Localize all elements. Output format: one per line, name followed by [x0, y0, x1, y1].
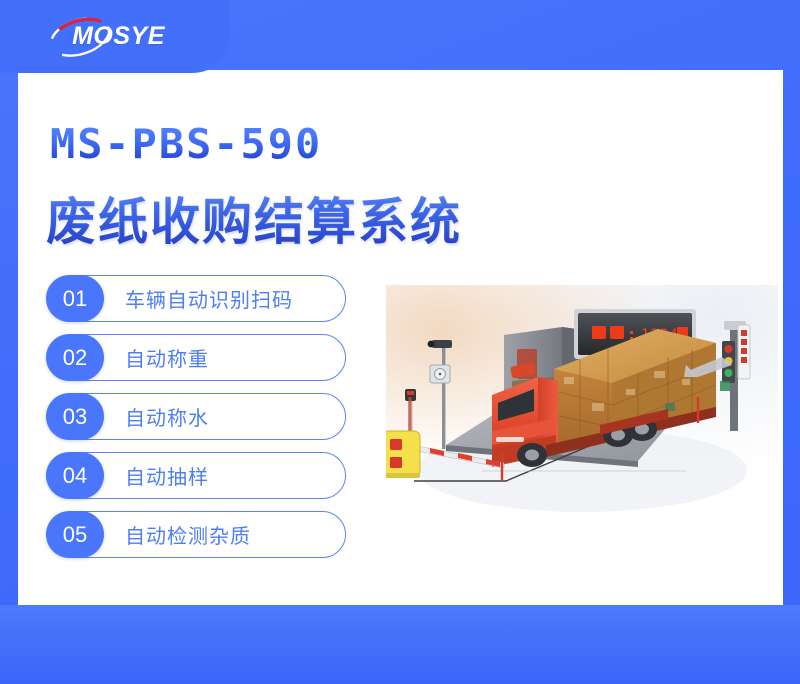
mosye-logo: MOSYE	[44, 14, 179, 60]
list-item[interactable]: 车辆自动识别扫码 01	[46, 275, 346, 322]
headlight	[496, 437, 524, 442]
truck-weighbridge-illustration: 1234	[386, 285, 778, 535]
feature-label: 自动称重	[125, 343, 209, 372]
camera-pole	[428, 340, 452, 449]
bottom-blue-band	[0, 605, 800, 684]
poster-root: MS-PBS-590 废纸收购结算系统 车辆自动识别扫码 01 自动称重 02 …	[0, 0, 800, 684]
content-card: MS-PBS-590 废纸收购结算系统 车辆自动识别扫码 01 自动称重 02 …	[18, 70, 783, 605]
feature-number-badge: 01	[46, 275, 104, 322]
feature-label: 自动抽样	[125, 461, 209, 490]
feature-label: 自动检测杂质	[125, 520, 251, 549]
logo-text: MOSYE	[72, 22, 165, 51]
feature-list: 车辆自动识别扫码 01 自动称重 02 自动称水 03 自动抽样	[46, 275, 346, 570]
page-title: 废纸收购结算系统	[46, 182, 462, 254]
yellow-bollard	[386, 431, 420, 478]
feature-number-badge: 03	[46, 393, 104, 440]
list-item[interactable]: 自动抽样 04	[46, 452, 346, 499]
list-item[interactable]: 自动称水 03	[46, 393, 346, 440]
brand-header-bar: MOSYE	[0, 0, 229, 73]
feature-number-badge: 02	[46, 334, 104, 381]
feature-label: 自动称水	[125, 402, 209, 431]
feature-number-badge: 05	[46, 511, 104, 558]
model-code: MS-PBS-590	[50, 120, 322, 168]
feature-number-badge: 04	[46, 452, 104, 499]
traffic-light	[720, 321, 750, 431]
list-item[interactable]: 自动称重 02	[46, 334, 346, 381]
feature-label: 车辆自动识别扫码	[125, 284, 293, 313]
list-item[interactable]: 自动检测杂质 05	[46, 511, 346, 558]
